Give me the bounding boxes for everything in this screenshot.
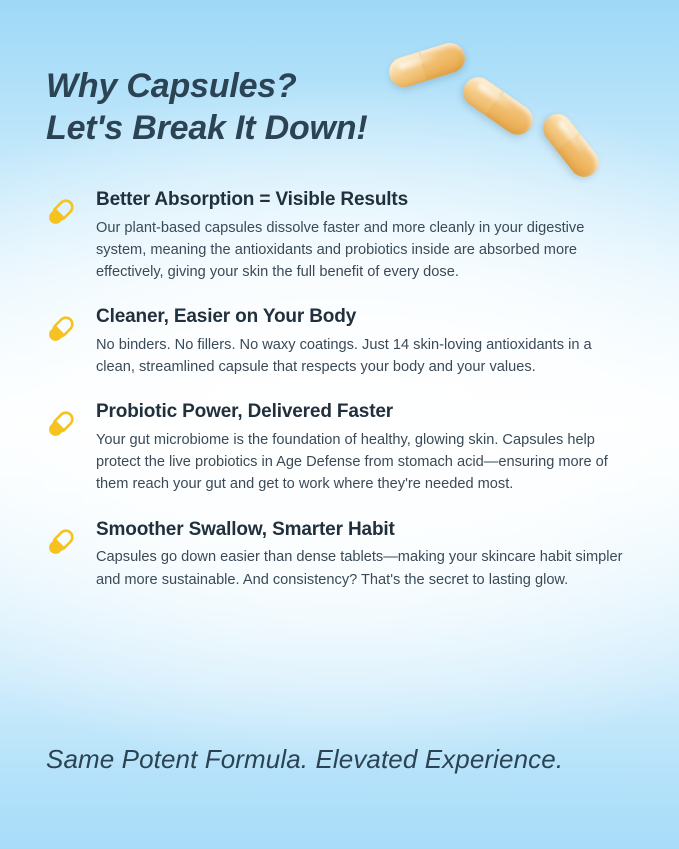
capsule-icon	[46, 523, 80, 557]
capsule-benefits-poster: Why Capsules? Let's Break It Down! Bette…	[0, 0, 679, 849]
benefit-title: Better Absorption = Visible Results	[96, 188, 646, 212]
benefit-body: Cleaner, Easier on Your Body No binders.…	[96, 305, 646, 378]
benefit-item-smoother-swallow: Smoother Swallow, Smarter Habit Capsules…	[46, 518, 646, 591]
benefit-item-cleaner-easier: Cleaner, Easier on Your Body No binders.…	[46, 305, 646, 378]
benefit-body: Smoother Swallow, Smarter Habit Capsules…	[96, 518, 646, 591]
benefit-text: Capsules go down easier than dense table…	[96, 546, 628, 590]
capsule-icon	[46, 405, 80, 439]
benefit-item-probiotic-power: Probiotic Power, Delivered Faster Your g…	[46, 400, 646, 495]
benefit-text: No binders. No fillers. No waxy coatings…	[96, 334, 628, 378]
benefit-list: Better Absorption = Visible Results Our …	[46, 188, 646, 591]
capsule-icon	[46, 310, 80, 344]
benefit-title: Smoother Swallow, Smarter Habit	[96, 518, 646, 542]
benefit-body: Better Absorption = Visible Results Our …	[96, 188, 646, 283]
benefit-body: Probiotic Power, Delivered Faster Your g…	[96, 400, 646, 495]
benefit-title: Probiotic Power, Delivered Faster	[96, 400, 646, 424]
page-title: Why Capsules? Let's Break It Down!	[46, 66, 566, 150]
footer-tagline: Same Potent Formula. Elevated Experience…	[46, 744, 646, 775]
page-title-line-2: Let's Break It Down!	[46, 108, 566, 150]
capsule-icon	[46, 193, 80, 227]
benefit-title: Cleaner, Easier on Your Body	[96, 305, 646, 329]
benefit-text: Our plant-based capsules dissolve faster…	[96, 217, 628, 284]
benefit-item-better-absorption: Better Absorption = Visible Results Our …	[46, 188, 646, 283]
benefit-text: Your gut microbiome is the foundation of…	[96, 429, 628, 496]
page-title-line-1: Why Capsules?	[46, 66, 566, 108]
